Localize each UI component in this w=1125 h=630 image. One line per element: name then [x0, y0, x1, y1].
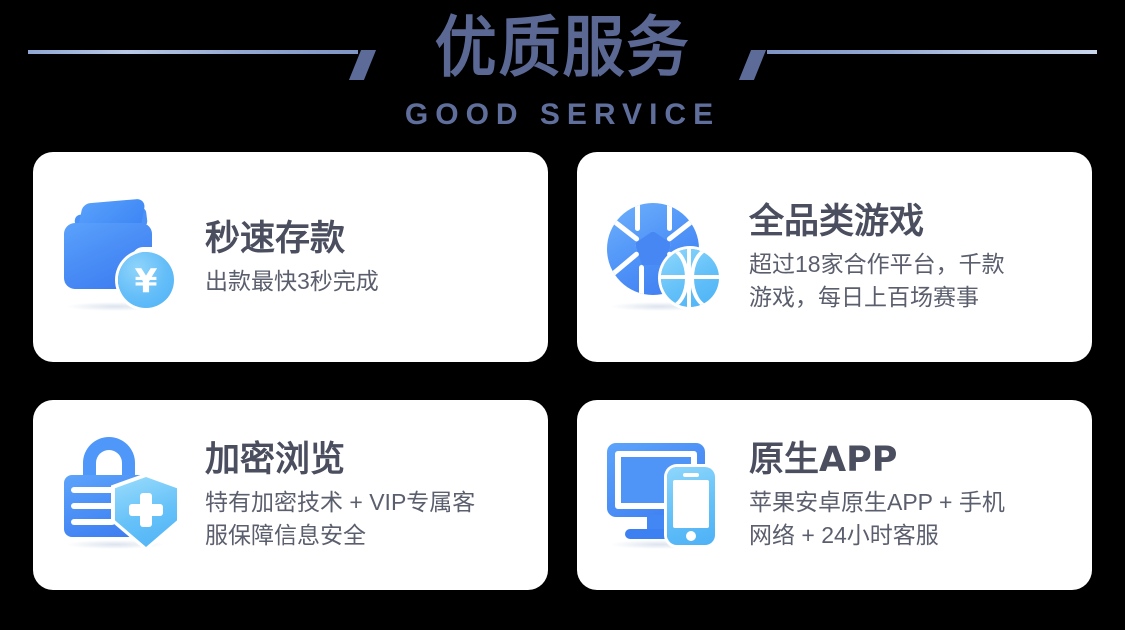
page-subtitle: GOOD SERVICE [0, 97, 1125, 133]
soccer-basketball-icon [605, 197, 725, 309]
phone-home-button [686, 531, 696, 541]
basketball-icon [661, 249, 719, 307]
card-title: 原生APP [749, 438, 1082, 482]
card-icon-slot [61, 435, 189, 555]
feature-card-encryption[interactable]: 加密浏览 特有加密技术 + VIP专属客 服保障信息安全 [33, 400, 548, 590]
card-subtitle-line: 特有加密技术 + VIP专属客 [205, 486, 538, 519]
monitor-phone-icon [605, 435, 725, 547]
plus-icon [129, 504, 163, 516]
card-icon-slot [605, 435, 733, 555]
card-subtitle-line: 出款最快3秒完成 [205, 265, 538, 298]
card-icon-slot: ¥ [61, 197, 189, 317]
promo-banner: 优质服务 GOOD SERVICE ¥ 秒速存款 [0, 0, 1125, 630]
feature-card-games[interactable]: 全品类游戏 超过18家合作平台，千款 游戏，每日上百场赛事 [577, 152, 1092, 362]
lock-slot [71, 487, 115, 493]
card-subtitle: 特有加密技术 + VIP专属客 服保障信息安全 [205, 486, 538, 552]
card-icon-slot [605, 197, 733, 317]
feature-card-native-app[interactable]: 原生APP 苹果安卓原生APP + 手机 网络 + 24小时客服 [577, 400, 1092, 590]
wallet-yen-icon: ¥ [61, 197, 181, 309]
card-title: 秒速存款 [205, 217, 538, 261]
card-subtitle-line: 服保障信息安全 [205, 519, 538, 552]
card-title: 加密浏览 [205, 438, 538, 482]
soccer-seam [607, 251, 640, 281]
card-subtitle-line: 网络 + 24小时客服 [749, 519, 1082, 552]
card-text: 原生APP 苹果安卓原生APP + 手机 网络 + 24小时客服 [733, 438, 1092, 552]
card-subtitle: 超过18家合作平台，千款 游戏，每日上百场赛事 [749, 248, 1082, 314]
card-subtitle-line: 游戏，每日上百场赛事 [749, 281, 1082, 314]
phone-speaker [683, 473, 699, 477]
card-text: 加密浏览 特有加密技术 + VIP专属客 服保障信息安全 [189, 438, 548, 552]
card-subtitle: 出款最快3秒完成 [205, 265, 538, 298]
basketball-seam [661, 249, 689, 307]
card-subtitle: 苹果安卓原生APP + 手机 网络 + 24小时客服 [749, 486, 1082, 552]
feature-card-deposit[interactable]: ¥ 秒速存款 出款最快3秒完成 [33, 152, 548, 362]
yen-symbol: ¥ [118, 252, 174, 308]
card-subtitle-line: 超过18家合作平台，千款 [749, 248, 1082, 281]
card-subtitle-line: 苹果安卓原生APP + 手机 [749, 486, 1082, 519]
card-text: 秒速存款 出款最快3秒完成 [189, 217, 548, 298]
feature-card-grid: ¥ 秒速存款 出款最快3秒完成 [33, 152, 1092, 590]
card-text: 全品类游戏 超过18家合作平台，千款 游戏，每日上百场赛事 [733, 200, 1092, 314]
card-title: 全品类游戏 [749, 200, 1082, 244]
soccer-seam [635, 203, 640, 231]
page-title: 优质服务 [34, 6, 1092, 90]
soccer-seam [639, 265, 644, 295]
basketball-seam [690, 249, 719, 307]
phone-screen [673, 480, 709, 528]
lock-shield-icon [61, 435, 181, 547]
header: 优质服务 GOOD SERVICE [0, 0, 1125, 148]
lock-slot [71, 503, 115, 509]
lock-slot [71, 519, 115, 525]
soccer-seam [667, 203, 672, 231]
